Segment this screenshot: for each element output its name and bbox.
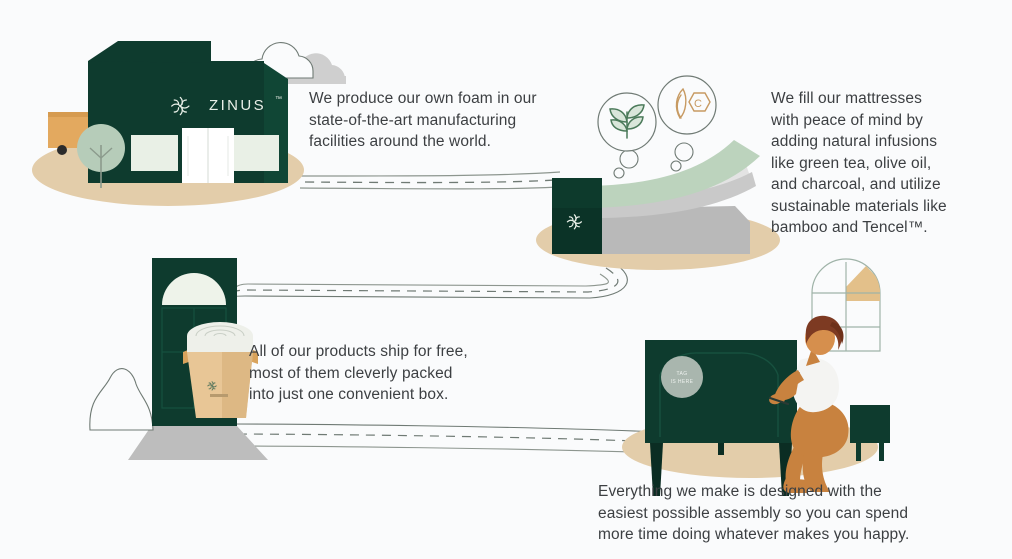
scene-shipping [90,258,268,460]
svg-text:IS HERE: IS HERE [671,379,694,385]
bubble-small [675,143,693,161]
svg-text:TAG: TAG [676,371,687,377]
scene-infusions: C [536,76,780,270]
text-infusions: We fill our mattresses with peace of min… [771,88,971,239]
round-badge [661,356,703,398]
shipping-box [183,322,258,418]
text-shipping: All of our products ship for free, most … [249,341,499,406]
zinus-wordmark: ZINUS [209,97,266,114]
infographic-canvas: ZINUS ™ [0,0,1012,559]
illustration-artwork: ZINUS ™ [0,0,1012,559]
text-manufacturing: We produce our own foam in our state-of-… [309,88,571,153]
bush-outline [90,369,153,430]
rolled-mattress [187,322,253,352]
bubble-tiny [614,168,624,178]
text-assembly: Everything we make is designed with the … [598,481,948,546]
charcoal-molecule-bubble [658,76,716,134]
svg-text:™: ™ [275,96,282,103]
bubble-small [620,150,638,168]
svg-text:C: C [694,98,702,110]
scene-manufacturing: ZINUS ™ [32,41,346,206]
bubble-tiny [671,161,681,171]
scene-assembly: TAG IS HERE [622,259,890,496]
